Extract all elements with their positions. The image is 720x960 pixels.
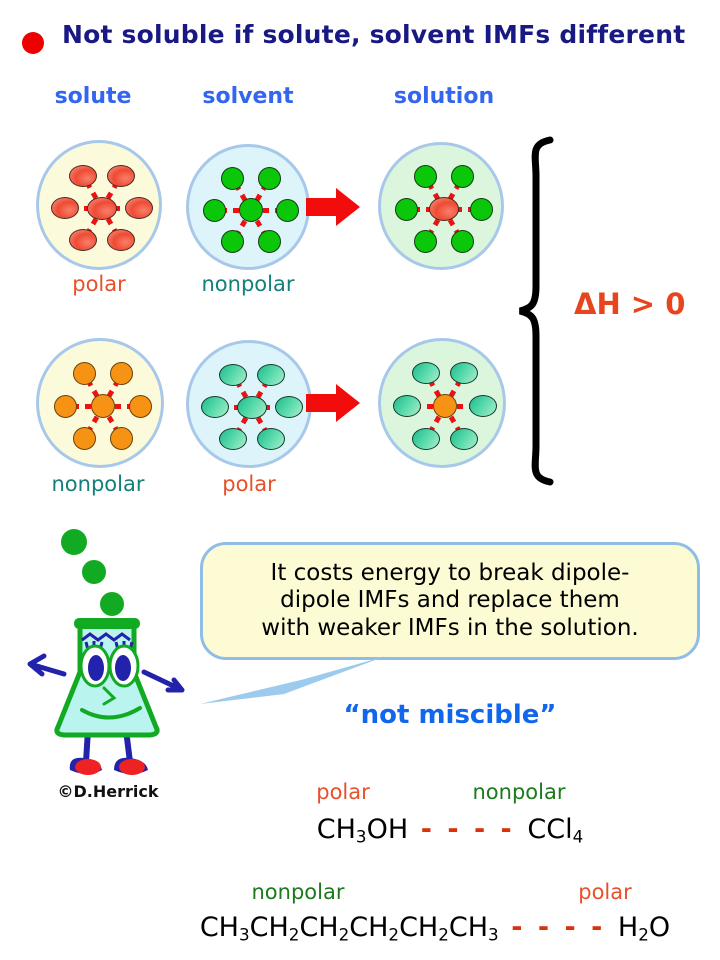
molecule-particle <box>107 165 135 187</box>
diagram-solution-row1 <box>378 142 504 270</box>
copyright-credit: ©D.Herrick <box>18 782 198 801</box>
molecule-particle <box>69 229 97 251</box>
molecule-particle <box>450 362 478 384</box>
molecule-particle-center <box>91 394 115 418</box>
diagram-solvent-row2 <box>186 340 312 468</box>
bubble-icon <box>100 592 124 616</box>
molecule-particle-center <box>429 197 459 221</box>
molecule-particle <box>470 198 493 221</box>
molecule-particle <box>258 230 281 253</box>
molecule-particle <box>414 165 437 188</box>
conclusion-label: “not miscible” <box>200 700 700 730</box>
molecule-particle <box>110 427 133 450</box>
reaction-arrow-row1 <box>306 186 360 228</box>
molecule-particle-center <box>237 396 267 419</box>
molecule-particle <box>257 428 285 450</box>
example1-formula: CH3OH - - - - CCl4 <box>180 814 720 847</box>
reaction-arrow-row2 <box>306 382 360 424</box>
callout-text: It costs energy to break dipole- dipole … <box>214 560 686 641</box>
example2-right-label: polar <box>540 880 670 904</box>
enthalpy-label: ΔH > 0 <box>574 287 714 321</box>
molecule-particle <box>73 427 96 450</box>
example2-separator: - - - - <box>507 912 609 943</box>
row1-solvent-phase-label: nonpolar <box>180 272 316 296</box>
molecule-particle <box>69 165 97 187</box>
diagram-solution-row2 <box>378 338 506 468</box>
molecule-particle-center <box>239 198 263 222</box>
example1-left-formula: CH3OH <box>317 814 408 845</box>
callout-line-3: with weaker IMFs in the solution. <box>261 615 638 641</box>
slide-title-row: Not soluble if solute, solvent IMFs diff… <box>0 18 720 64</box>
example1-right-label: nonpolar <box>444 780 594 804</box>
molecule-particle <box>395 198 418 221</box>
example2-left-label: nonpolar <box>218 880 378 904</box>
molecule-particle <box>412 362 440 384</box>
molecule-particle <box>107 229 135 251</box>
grouping-brace <box>516 136 576 486</box>
molecule-particle <box>54 395 77 418</box>
molecule-particle-center <box>433 394 457 418</box>
molecule-particle <box>393 395 421 417</box>
molecule-particle-center <box>87 197 117 220</box>
example1-separator: - - - - <box>417 814 519 845</box>
row1-solute-phase-label: polar <box>38 272 160 296</box>
example1-left-label: polar <box>278 780 408 804</box>
row2-solvent-phase-label: polar <box>188 472 310 496</box>
diagram-solute-row2 <box>36 338 164 468</box>
molecule-particle <box>203 199 226 222</box>
molecule-particle <box>201 396 229 418</box>
callout-line-2: dipole IMFs and replace them <box>280 587 620 613</box>
molecule-particle <box>451 165 474 188</box>
example2-left-formula: CH3CH2CH2CH2CH2CH3 <box>200 912 499 943</box>
molecule-particle <box>73 362 96 385</box>
molecule-particle <box>129 395 152 418</box>
molecule-particle <box>469 395 497 417</box>
molecule-particle <box>221 230 244 253</box>
molecule-particle <box>275 396 303 418</box>
row2-solute-phase-label: nonpolar <box>30 472 166 496</box>
molecule-particle <box>257 364 285 386</box>
flask-mascot-illustration <box>18 522 198 780</box>
molecule-particle <box>276 199 299 222</box>
molecule-particle <box>219 428 247 450</box>
molecule-particle <box>258 167 281 190</box>
example2-formula: CH3CH2CH2CH2CH2CH3 - - - - H2O <box>150 912 720 945</box>
callout-tail <box>198 654 388 706</box>
column-header-solute: solute <box>38 84 148 109</box>
bullet-icon <box>22 32 44 54</box>
molecule-particle <box>221 167 244 190</box>
molecule-particle <box>414 230 437 253</box>
bubble-icon <box>82 560 106 584</box>
example2-right-formula: H2O <box>618 912 670 943</box>
callout-box: It costs energy to break dipole- dipole … <box>200 542 700 660</box>
diagram-solute-row1 <box>36 140 162 270</box>
molecule-particle <box>125 197 153 219</box>
column-header-solution: solution <box>376 84 512 109</box>
molecule-particle <box>451 230 474 253</box>
bubble-icon <box>61 529 87 555</box>
callout-line-1: It costs energy to break dipole- <box>271 560 630 586</box>
example1-right-formula: CCl4 <box>527 814 583 845</box>
molecule-particle <box>450 428 478 450</box>
page-title: Not soluble if solute, solvent IMFs diff… <box>62 20 712 49</box>
molecule-particle <box>412 428 440 450</box>
molecule-particle <box>219 364 247 386</box>
molecule-particle <box>110 362 133 385</box>
column-header-solvent: solvent <box>184 84 312 109</box>
molecule-particle <box>51 197 79 219</box>
diagram-solvent-row1 <box>186 144 310 270</box>
